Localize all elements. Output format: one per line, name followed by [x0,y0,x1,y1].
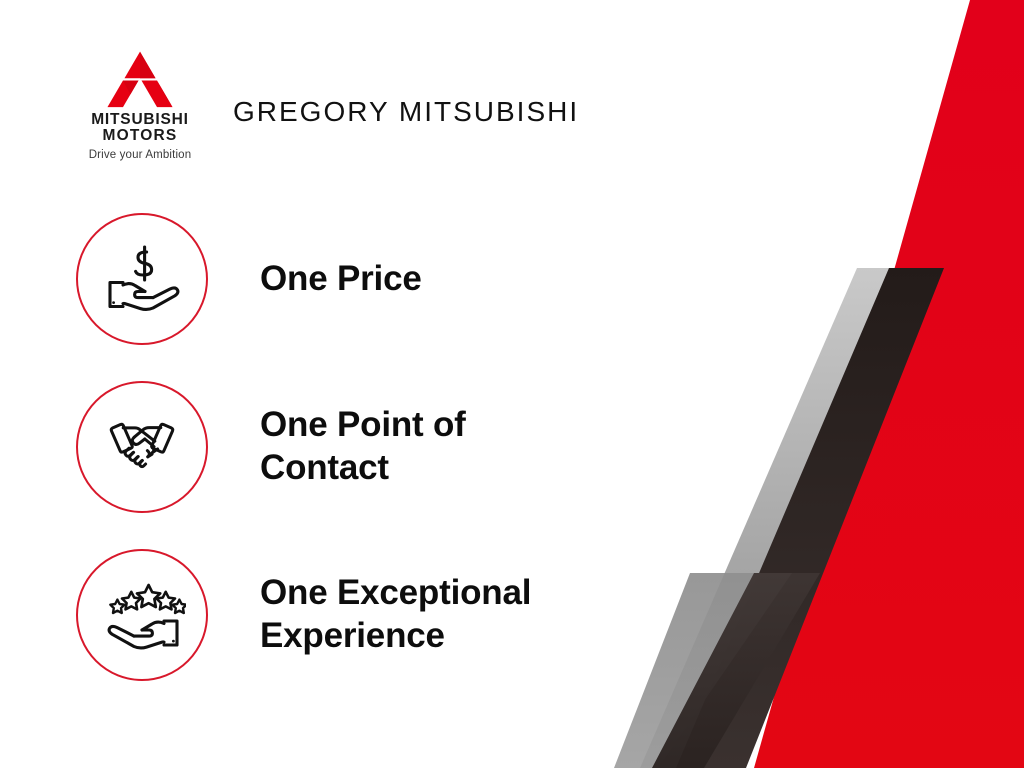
dealer-name: GREGORY MITSUBISHI [233,96,579,128]
dark-parallelogram-lower [652,573,820,768]
feature-label: One Point of Contact [260,404,466,489]
icon-circle-one-point-of-contact [76,381,208,513]
brand-header: MITSUBISHI MOTORS Drive your Ambition GR… [0,0,640,190]
light-gray-parallelogram-upper [640,268,926,768]
mid-gray-parallelogram-lower [614,573,792,768]
icon-circle-one-price [76,213,208,345]
feature-label: One Price [260,258,422,301]
icon-circle-one-exceptional-experience [76,549,208,681]
handshake-icon [99,415,185,479]
wordmark-line-1: MITSUBISHI [74,112,206,128]
mitsubishi-wordmark: MITSUBISHI MOTORS [74,112,206,144]
mitsubishi-three-diamond-emblem [103,50,177,108]
hand-holding-stars-icon [98,579,186,651]
brand-tagline: Drive your Ambition [74,149,206,161]
hand-holding-dollar-icon [99,244,185,314]
feature-row: One Price [0,213,640,345]
diagonal-accent-graphic [604,0,1024,768]
slide-canvas: MITSUBISHI MOTORS Drive your Ambition GR… [0,0,1024,768]
feature-row: One Point of Contact [0,381,640,513]
feature-label: One Exceptional Experience [260,572,531,657]
dark-parallelogram-upper [676,268,944,768]
mitsubishi-motors-logo: MITSUBISHI MOTORS Drive your Ambition [74,50,206,161]
wordmark-line-2: MOTORS [74,128,206,144]
red-diagonal-band [754,0,1024,768]
feature-row: One Exceptional Experience [0,549,640,681]
